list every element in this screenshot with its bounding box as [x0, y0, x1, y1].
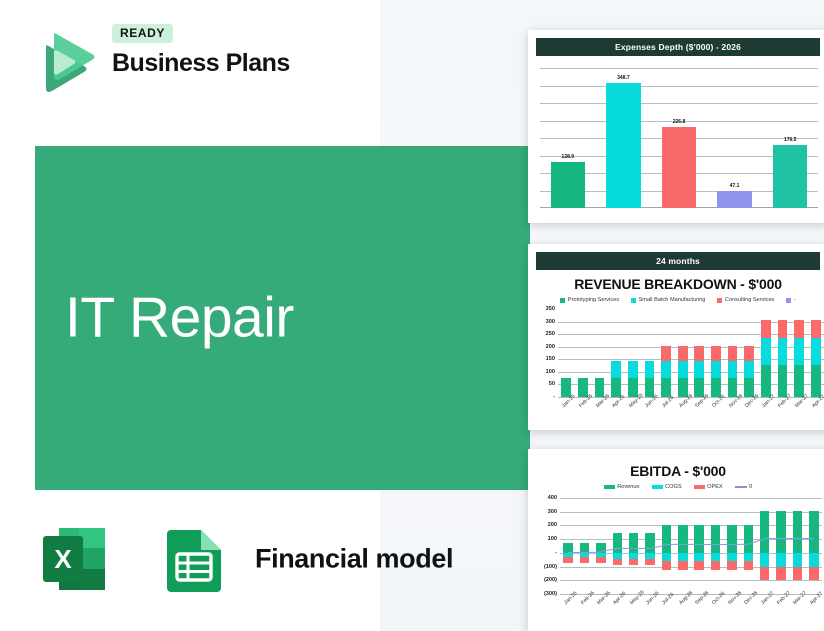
chart3-xtick: Nov-26 — [727, 590, 743, 606]
chart3-stack-segment — [596, 557, 605, 563]
chart2-ytick: 350 — [546, 306, 555, 312]
chart2-stack-segment — [794, 365, 804, 397]
chart3-stack-segment — [744, 561, 753, 570]
legend-label: Revenue — [617, 484, 639, 490]
legend-item: COGS — [652, 484, 682, 490]
legend-item: 0 — [735, 484, 753, 490]
chart2-stack-segment — [794, 320, 804, 338]
chart3-line-segment — [797, 538, 813, 539]
chart2-stack-segment — [761, 320, 771, 338]
chart3-stack-segment — [793, 511, 802, 553]
chart2-stack-segment — [628, 361, 638, 379]
chart2-stack-segment — [761, 365, 771, 397]
chart1-bar-label: 348.7 — [617, 75, 630, 81]
chart3-line-segment — [781, 538, 797, 539]
chart3-stack-segment — [793, 567, 802, 580]
legend-label: 0 — [749, 484, 752, 490]
chart2-stack-segment — [744, 378, 754, 397]
page-title: IT Repair — [65, 290, 294, 347]
chart3-stack-segment — [711, 561, 720, 570]
chart3-stack-segment — [727, 525, 736, 553]
chart1-bar — [606, 83, 640, 208]
chart3-ytick: 400 — [548, 495, 557, 501]
legend-item: Revenue — [604, 484, 640, 490]
title-block: IT Repair — [35, 146, 530, 490]
chart3-stack-segment — [662, 553, 671, 561]
chart1-header: Expenses Depth ($'000) - 2026 — [528, 30, 824, 56]
legend-item: OPEX — [694, 484, 723, 490]
chart2-stack-segment — [678, 361, 688, 379]
chart2-stack-segment — [595, 378, 605, 397]
chart2-stack-segment — [678, 346, 688, 361]
chart1-gridline — [540, 103, 818, 104]
chart3-ytick: 100 — [548, 536, 557, 542]
chart3-xtick: Mar-27 — [792, 590, 808, 606]
chart2-stack-segment — [578, 378, 588, 397]
chart-card-ebitda[interactable]: EBITDA - $'000 RevenueCOGSOPEX0 40030020… — [528, 449, 824, 631]
chart3-stack-segment — [711, 525, 720, 553]
chart3-stack-segment — [678, 553, 687, 561]
chart3-stack-segment — [760, 567, 769, 580]
chart1-bar-label: 47.1 — [730, 183, 740, 189]
ready-badge: READY — [112, 24, 173, 43]
chart2-stack-segment — [661, 346, 671, 361]
chart3-stack-segment — [809, 567, 818, 580]
chart2-title: REVENUE BREAKDOWN - $'000 — [528, 276, 824, 292]
chart2-ytick: 50 — [549, 381, 555, 387]
play-triangle-logo-icon — [26, 26, 98, 98]
chart2-stack-segment — [645, 361, 655, 379]
chart1-bar-label: 176.5 — [784, 137, 797, 143]
chart3-stack-segment — [678, 525, 687, 553]
chart2-stack-segment — [744, 346, 754, 361]
chart3-xtick: Jan-27 — [760, 591, 775, 606]
chart2-stack-segment — [611, 378, 621, 397]
chart3-stack-segment — [793, 553, 802, 567]
chart3-ytick: (300) — [544, 591, 557, 597]
legend-label: Consulting Services — [725, 297, 774, 303]
chart3-xtick: Jun-26 — [645, 591, 660, 606]
chart3-stack-segment — [727, 553, 736, 561]
chart2-stack-segment — [711, 378, 721, 397]
chart2-stack-segment — [694, 361, 704, 379]
chart2-stack-segment — [778, 365, 788, 397]
chart3-xtick: Mar-26 — [596, 590, 612, 606]
chart2-stack-segment — [811, 365, 821, 397]
chart2-band: 24 months — [536, 252, 820, 270]
chart3-stack-segment — [629, 559, 638, 566]
chart2-ytick: - — [553, 394, 555, 400]
legend-label: Small Batch Manufacturing — [639, 297, 706, 303]
chart2-ytick: 100 — [546, 369, 555, 375]
chart3-stack-segment — [613, 559, 622, 566]
legend-swatch — [717, 298, 722, 303]
legend-swatch — [604, 485, 615, 489]
chart3-xtick: Sep-26 — [694, 590, 710, 606]
chart3-line-segment — [716, 544, 732, 545]
chart3-xtick: Aug-26 — [678, 590, 694, 606]
chart3-stack-segment — [694, 525, 703, 553]
chart2-stack-segment — [611, 361, 621, 379]
chart3-stack-segment — [629, 533, 638, 553]
chart3-title: EBITDA - $'000 — [528, 463, 824, 479]
chart2-stack-segment — [794, 338, 804, 364]
chart-card-expenses[interactable]: Expenses Depth ($'000) - 2026 128.9348.7… — [528, 30, 824, 223]
chart3-stack-segment — [645, 533, 654, 553]
brand-text-block: READY Business Plans — [112, 24, 352, 100]
legend-swatch — [735, 486, 747, 488]
chart3-stack-segment — [744, 525, 753, 553]
legend-swatch — [786, 298, 791, 303]
legend-swatch — [652, 485, 663, 489]
chart1-bar — [717, 191, 751, 208]
chart2-stack-segment — [678, 378, 688, 397]
chart3-stack-segment — [694, 561, 703, 570]
chart2-ytick: 300 — [546, 319, 555, 325]
chart3-ytick: (200) — [544, 577, 557, 583]
chart3-stack-segment — [809, 511, 818, 553]
chart3-stack-segment — [776, 567, 785, 580]
chart2-stack-segment — [744, 361, 754, 379]
chart-card-revenue[interactable]: 24 months REVENUE BREAKDOWN - $'000 Prot… — [528, 244, 824, 430]
chart1-bar-label: 128.9 — [562, 154, 575, 160]
chart3-stack-segment — [776, 553, 785, 567]
chart3-xtick: Feb-27 — [776, 590, 792, 606]
chart3-xtick: Dec-26 — [743, 590, 759, 606]
legend-label: - — [794, 297, 796, 303]
chart2-stack-segment — [728, 346, 738, 361]
chart2-stack-segment — [778, 338, 788, 364]
chart3-line-segment — [585, 551, 601, 553]
chart3-xtick: Feb-26 — [580, 590, 596, 606]
chart2-stack-segment — [661, 378, 671, 397]
chart3-stack-segment — [809, 553, 818, 567]
chart3-ytick: (100) — [544, 564, 557, 570]
chart3-gridline — [560, 498, 822, 499]
chart3-stack-segment — [760, 511, 769, 553]
chart3-gridline — [560, 580, 822, 581]
chart3-plot: 400300200100-(100)(200)(300)Jan-26Feb-26… — [560, 498, 822, 594]
legend-label: COGS — [665, 484, 681, 490]
legend-label: Prototyping Services — [568, 297, 619, 303]
svg-text:X: X — [54, 544, 72, 574]
brand-logo: READY Business Plans — [26, 24, 356, 102]
slide-root: READY Business Plans IT Repair X — [0, 0, 824, 631]
chart2-stack-segment — [761, 338, 771, 364]
chart2-legend: Prototyping ServicesSmall Batch Manufact… — [528, 297, 824, 303]
microsoft-excel-icon: X — [33, 518, 115, 600]
chart1-title: Expenses Depth ($'000) - 2026 — [536, 38, 820, 56]
chart3-legend: RevenueCOGSOPEX0 — [528, 484, 824, 490]
legend-swatch — [631, 298, 636, 303]
chart3-xtick: May-26 — [629, 590, 645, 606]
chart3-stack-segment — [662, 525, 671, 553]
chart2-stack-segment — [778, 320, 788, 338]
chart2-stack-segment — [811, 320, 821, 338]
chart2-plot: 35030025020015010050-Jan-26Feb-26Mar-26A… — [558, 309, 824, 397]
chart2-ytick: 200 — [546, 344, 555, 350]
chart2-stack-segment — [661, 361, 671, 379]
chart1-gridline — [540, 86, 818, 87]
brand-name: Business Plans — [112, 50, 352, 76]
chart2-stack-segment — [811, 338, 821, 364]
chart3-stack-segment — [727, 561, 736, 570]
chart3-stack-segment — [563, 557, 572, 563]
chart1-bar — [773, 145, 807, 208]
legend-label: OPEX — [707, 484, 723, 490]
chart2-stack-segment — [694, 346, 704, 361]
chart3-ytick: 300 — [548, 509, 557, 515]
chart2-stack-segment — [711, 361, 721, 379]
chart3-ytick: 200 — [548, 522, 557, 528]
chart2-header: 24 months — [528, 244, 824, 270]
chart3-stack-segment — [760, 553, 769, 567]
chart1-bar-label: 226.8 — [673, 119, 686, 125]
chart3-line-segment — [699, 544, 715, 545]
chart2-stack-segment — [728, 361, 738, 379]
chart3-stack-segment — [776, 511, 785, 553]
chart2-ytick: 250 — [546, 331, 555, 337]
chart3-stack-segment — [662, 561, 671, 570]
chart3-xtick: Jan-26 — [563, 591, 578, 606]
chart3-stack-segment — [645, 559, 654, 566]
google-sheets-icon — [153, 518, 235, 600]
chart2-stack-segment — [628, 378, 638, 397]
chart3-stack-segment — [678, 561, 687, 570]
chart3-ytick: - — [555, 550, 557, 556]
chart3-line-segment — [732, 544, 748, 546]
legend-item: Small Batch Manufacturing — [631, 297, 705, 303]
chart1-gridline — [540, 68, 818, 69]
chart2-ytick: 150 — [546, 356, 555, 362]
legend-swatch — [694, 485, 705, 489]
legend-item: - — [786, 297, 795, 303]
chart1-bar — [551, 162, 585, 208]
legend-swatch — [560, 298, 565, 303]
chart3-stack-segment — [580, 557, 589, 563]
footer-label: Financial model — [255, 544, 453, 575]
footer-formats: X Financial model — [33, 518, 453, 600]
chart2-stack-segment — [711, 346, 721, 361]
chart3-stack-segment — [694, 553, 703, 561]
chart2-stack-segment — [728, 378, 738, 397]
legend-item: Consulting Services — [717, 297, 774, 303]
chart1-bar — [662, 127, 696, 208]
chart3-stack-segment — [744, 553, 753, 561]
chart3-stack-segment — [711, 553, 720, 561]
chart3-line-segment — [568, 552, 584, 553]
chart1-plot: 128.9348.7226.847.1176.5 — [540, 68, 818, 208]
chart3-line-segment — [765, 538, 781, 539]
legend-item: Prototyping Services — [560, 297, 619, 303]
